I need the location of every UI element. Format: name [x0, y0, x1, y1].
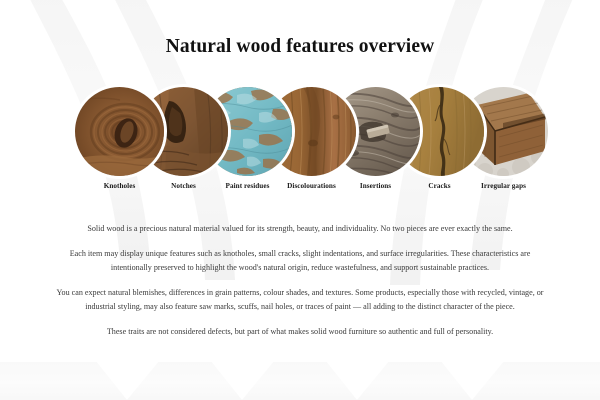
page-root: Natural wood features overview [0, 0, 600, 400]
page-title: Natural wood features overview [0, 36, 600, 58]
feature-item-knotholes[interactable]: Knotholes [75, 87, 164, 176]
body-paragraph-1: Solid wood is a precious natural materia… [50, 222, 550, 236]
wood-knothole-texture-icon [75, 87, 164, 176]
body-copy: Solid wood is a precious natural materia… [50, 222, 550, 339]
body-paragraph-2: Each item may display unique features su… [50, 247, 550, 275]
body-paragraph-4: These traits are not considered defects,… [50, 325, 550, 339]
feature-circle-wrap [75, 87, 164, 176]
feature-strip: Knotholes [0, 87, 600, 197]
body-paragraph-3: You can expect natural blemishes, differ… [50, 286, 550, 314]
feature-label-knotholes: Knotholes [53, 182, 186, 190]
